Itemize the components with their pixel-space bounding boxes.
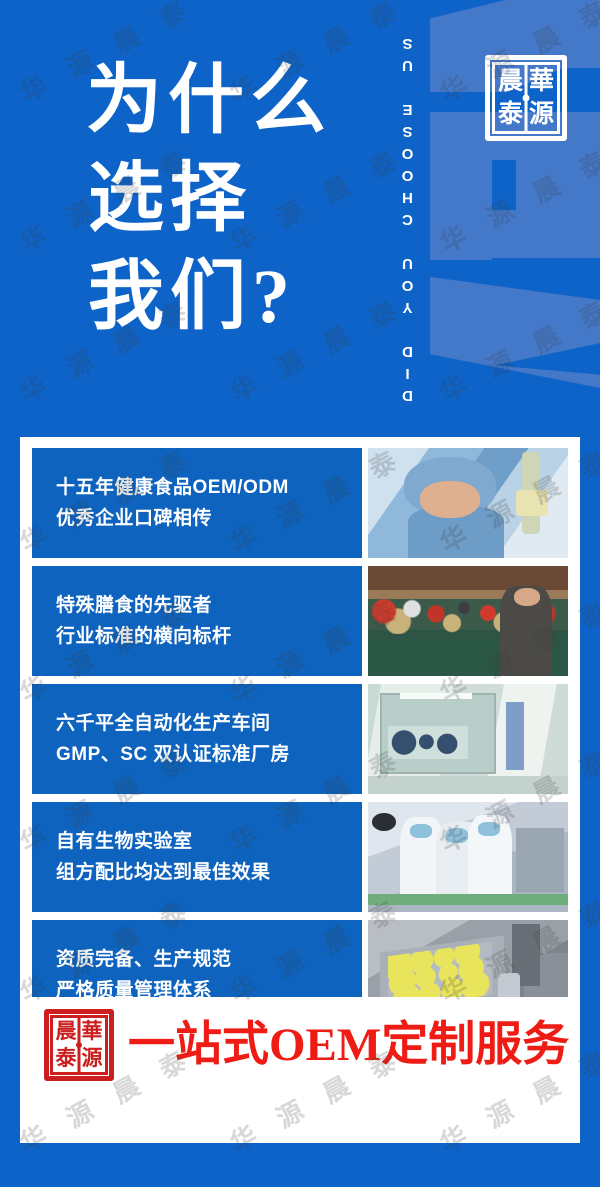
banner-seal-char-top-left: 晨 bbox=[53, 1018, 79, 1045]
feature-line-1: 自有生物实验室 bbox=[56, 826, 362, 857]
banner-seal-logo: 晨 華 泰 源 bbox=[44, 1009, 114, 1081]
feature-line-2: 行业标准的横向标杆 bbox=[56, 621, 362, 652]
why-shape-7 bbox=[430, 276, 600, 400]
seal-char-bottom-right: 源 bbox=[526, 98, 557, 131]
page-title: 为什么 选择 我们? bbox=[86, 52, 386, 346]
feature-line-2: GMP、SC 双认证标准厂房 bbox=[56, 739, 362, 770]
company-seal-logo: 晨 華 泰 源 bbox=[485, 55, 567, 141]
conference-audience-photo bbox=[368, 566, 568, 676]
feature-card-text: 特殊膳食的先驱者 行业标准的横向标杆 bbox=[32, 566, 362, 676]
cleanroom-corridor-photo bbox=[368, 684, 568, 794]
why-shape-5 bbox=[516, 160, 600, 210]
watermark-text: 华 源 晨 泰 bbox=[433, 137, 600, 261]
feature-line-1: 十五年健康食品OEM/ODM bbox=[56, 472, 362, 503]
feature-card-text: 六千平全自动化生产车间 GMP、SC 双认证标准厂房 bbox=[32, 684, 362, 794]
feature-card[interactable]: 六千平全自动化生产车间 GMP、SC 双认证标准厂房 bbox=[32, 684, 568, 794]
poster-root: 为什么 选择 我们? DID YOU CHOOSE US 晨 華 泰 源 十五年… bbox=[0, 0, 600, 1187]
feature-card[interactable]: 自有生物实验室 组方配比均达到最佳效果 bbox=[32, 802, 568, 912]
feature-card[interactable]: 十五年健康食品OEM/ODM 优秀企业口碑相传 bbox=[32, 448, 568, 558]
banner-seal-char-bottom-right: 源 bbox=[79, 1045, 105, 1072]
why-shape-4 bbox=[430, 160, 492, 260]
banner-seal-center-dot-icon bbox=[76, 1042, 82, 1048]
feature-line-1: 特殊膳食的先驱者 bbox=[56, 590, 362, 621]
feature-card[interactable]: 特殊膳食的先驱者 行业标准的横向标杆 bbox=[32, 566, 568, 676]
lab-technician-photo bbox=[368, 448, 568, 558]
cta-banner[interactable]: 晨 華 泰 源 一站式OEM定制服务 bbox=[20, 997, 580, 1093]
why-shape-6 bbox=[430, 210, 600, 258]
cta-banner-text: 一站式OEM定制服务 bbox=[128, 1022, 569, 1069]
lab-workers-line-photo bbox=[368, 802, 568, 912]
watermark-text: 华 源 晨 泰 bbox=[433, 287, 600, 411]
headline-line-3: 我们? bbox=[88, 248, 386, 346]
seal-char-bottom-left: 泰 bbox=[495, 98, 526, 131]
feature-line-2: 优秀企业口碑相传 bbox=[56, 503, 362, 534]
headline-line-2: 选择 bbox=[88, 150, 386, 248]
seal-char-top-right: 華 bbox=[526, 65, 557, 98]
seal-center-dot-icon bbox=[523, 95, 530, 102]
banner-seal-char-bottom-left: 泰 bbox=[53, 1045, 79, 1072]
feature-line-1: 资质完备、生产规范 bbox=[56, 944, 362, 975]
seal-char-top-left: 晨 bbox=[495, 65, 526, 98]
feature-line-2: 组方配比均达到最佳效果 bbox=[56, 857, 362, 888]
feature-card-text: 十五年健康食品OEM/ODM 优秀企业口碑相传 bbox=[32, 448, 362, 558]
feature-card-text: 自有生物实验室 组方配比均达到最佳效果 bbox=[32, 802, 362, 912]
feature-line-1: 六千平全自动化生产车间 bbox=[56, 708, 362, 739]
vertical-subtitle: DID YOU CHOOSE US bbox=[399, 22, 429, 404]
headline-line-1: 为什么 bbox=[86, 52, 386, 150]
banner-seal-char-top-right: 華 bbox=[79, 1018, 105, 1045]
feature-card-list: 十五年健康食品OEM/ODM 优秀企业口碑相传 特殊膳食的先驱者 行业标准的横向… bbox=[32, 448, 568, 1038]
features-panel: 十五年健康食品OEM/ODM 优秀企业口碑相传 特殊膳食的先驱者 行业标准的横向… bbox=[20, 437, 580, 1143]
